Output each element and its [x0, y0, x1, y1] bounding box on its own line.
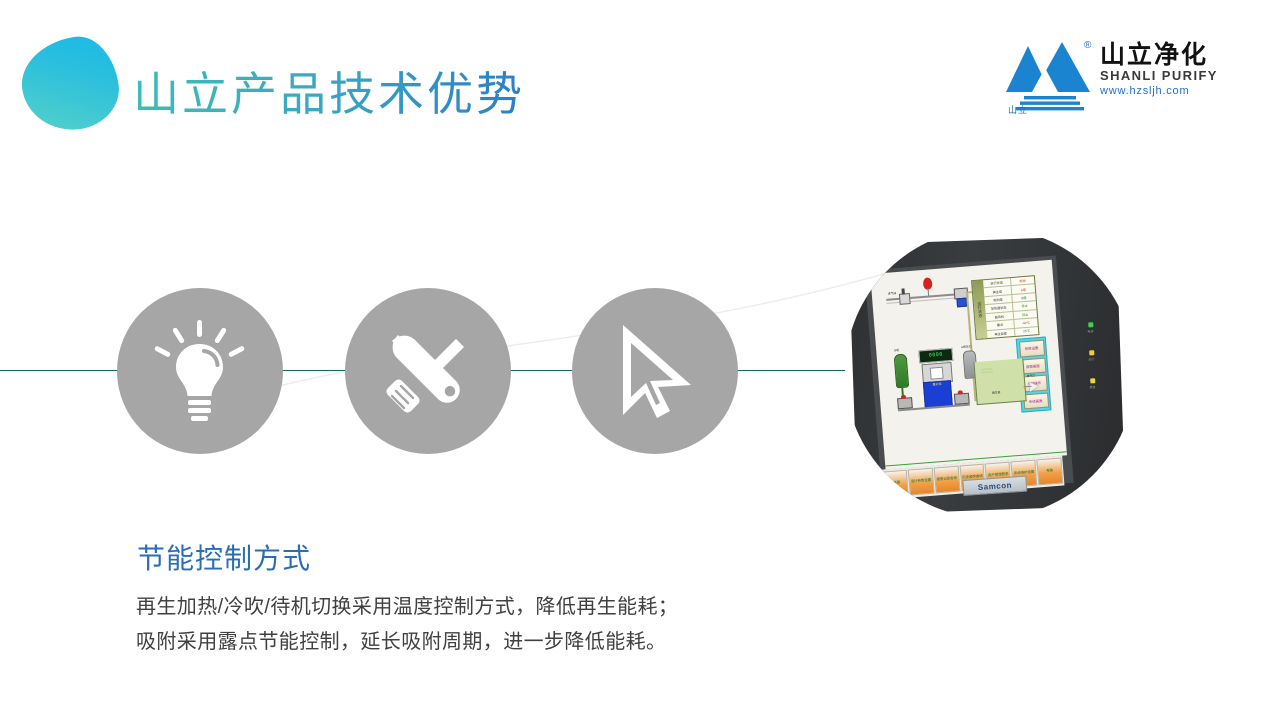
- gauge-label: A塔压力: [961, 344, 972, 349]
- hmi-side-button[interactable]: 参数设置: [1018, 340, 1044, 357]
- registered-trademark-icon: ®: [1084, 40, 1091, 51]
- led-run-icon: [1089, 350, 1094, 355]
- hmi-panel-photo: 进气阀 运行状态 运行状态: [845, 228, 1135, 518]
- pipe-yellow-down: [966, 291, 971, 329]
- logo-chinese-name: 山立净化: [1100, 42, 1220, 68]
- green-tank-icon: [894, 353, 910, 388]
- icon-circle-cursor[interactable]: [572, 288, 738, 454]
- logo-website-url: www.hzsljh.com: [1100, 85, 1220, 99]
- status-value: 25℃: [1015, 327, 1039, 336]
- hmi-led-group: 电源 运行 报警: [1083, 322, 1100, 406]
- hmi-bottom-button[interactable]: 运行参数设置: [908, 468, 935, 496]
- icon-circle-tools[interactable]: [345, 288, 511, 454]
- hmi-process-screen[interactable]: 进气阀 运行状态 运行状态: [870, 260, 1067, 470]
- body-copy: 再生加热/冷吹/待机切换采用温度控制方式，降低再生能耗； 吸附采用露点节能控制，…: [136, 590, 836, 660]
- dew-point-meter: 露点仪: [923, 380, 953, 408]
- hmi-bottom-button[interactable]: 主画面: [882, 470, 909, 498]
- indicator-stem: [928, 289, 930, 296]
- hmi-panel-body: 进气阀 运行状态 运行状态: [848, 235, 1125, 514]
- section-heading: 节能控制方式: [137, 537, 311, 577]
- led-alarm-label: 报警: [1085, 385, 1099, 389]
- slide-root: 山立产品技术优势 山立 ® 山立净化 SHANLI PURIFY www.hzs…: [0, 0, 1280, 720]
- tools-icon: [378, 321, 478, 421]
- body-line-2: 吸附采用露点节能控制，延长吸附周期，进一步降低能耗。: [136, 625, 836, 660]
- outlet-label: 排气口: [1027, 373, 1036, 378]
- logo-english-name: SHANLI PURIFY: [1100, 68, 1220, 84]
- body-line-1: 再生加热/冷吹/待机切换采用温度控制方式，降低再生能耗；: [136, 590, 836, 625]
- led-power-label: 电源: [1083, 329, 1097, 333]
- vessel-media-dots: ∴∵∴∵∴∵∴∵∴∵∴∵∴∵: [981, 369, 993, 376]
- digital-display: 0000: [918, 348, 953, 364]
- brand-logo: 山立 ® 山立净化 SHANLI PURIFY www.hzsljh.com: [1002, 36, 1220, 118]
- logo-mark-sublabel: 山立: [1008, 103, 1028, 116]
- led-power-icon: [1088, 322, 1093, 327]
- hmi-bottom-button[interactable]: 帮助: [1037, 458, 1064, 486]
- inlet-label: 进气阀: [888, 291, 897, 296]
- inlet-valve-icon: [899, 293, 911, 305]
- vessel-label: 再生塔: [992, 390, 1001, 395]
- adsorption-vessel: ∴∵∴∵∴∵∴∵∴∵∴∵∴∵ 再生塔: [973, 358, 1026, 405]
- page-title: 山立产品技术优势: [133, 58, 525, 124]
- hmi-bottom-button[interactable]: 报警记录查询: [933, 466, 960, 494]
- lightbulb-icon: [152, 318, 248, 424]
- valve-stem-icon: [901, 288, 904, 294]
- decorative-blob: [16, 32, 124, 136]
- status-table-rows: 运行状态 吸附 再生塔 A塔 吸附塔 B塔 加热器状态: [983, 276, 1038, 338]
- logo-text-block: 山立净化 SHANLI PURIFY www.hzsljh.com: [1100, 42, 1220, 98]
- status-table: 运行状态 运行状态 吸附 再生塔 A塔 吸附塔 B塔: [971, 275, 1040, 340]
- column-label: B塔: [894, 348, 899, 352]
- led-run-label: 运行: [1084, 357, 1098, 361]
- filter-indicator: [956, 298, 967, 308]
- cursor-arrow-icon: [607, 319, 703, 423]
- icon-circle-lightbulb[interactable]: [117, 288, 283, 454]
- controller-window: [930, 367, 944, 380]
- hmi-brand-badge: Samcon: [962, 476, 1027, 496]
- status-key: 再生温度: [987, 328, 1015, 338]
- led-alarm-icon: [1090, 378, 1095, 383]
